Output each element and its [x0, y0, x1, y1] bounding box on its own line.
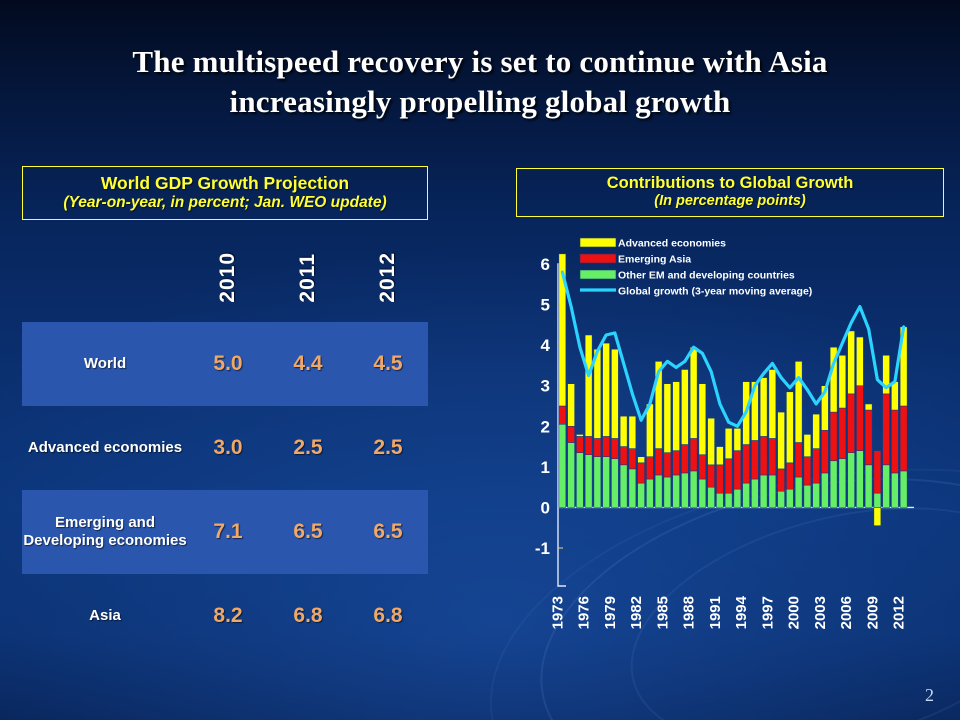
page-number: 2: [925, 685, 934, 706]
cell-emerging-2010: 7.1: [188, 490, 268, 574]
svg-text:1985: 1985: [654, 596, 671, 629]
table-header-2012: 2012: [348, 238, 428, 322]
cell-world-2011: 4.4: [268, 322, 348, 406]
table-row: Advanced economies 3.0 2.5 2.5: [22, 406, 428, 490]
cell-advanced-2010: 3.0: [188, 406, 268, 490]
svg-text:Advanced economies: Advanced economies: [618, 238, 726, 250]
chart-subtitle: (In percentage points): [521, 193, 939, 210]
cell-world-2010: 5.0: [188, 322, 268, 406]
contributions-chart-panel: Contributions to Global Growth (In perce…: [516, 168, 944, 217]
svg-text:-1: -1: [535, 539, 550, 558]
table-row: Emerging and Developing economies 7.1 6.…: [22, 490, 428, 574]
chart-x-tick-labels: 1973197619791982198519881991199419972000…: [549, 595, 907, 629]
contributions-chart-svg: Advanced economiesEmerging AsiaOther EM …: [516, 230, 944, 660]
svg-text:2: 2: [541, 417, 550, 436]
svg-text:Other EM and developing countr: Other EM and developing countries: [618, 270, 795, 282]
gdp-table: 2010 2011 2012 World 5.0: [22, 238, 428, 674]
cell-asia-2010: 8.2: [188, 574, 268, 658]
gdp-table-title-box: World GDP Growth Projection (Year-on-yea…: [22, 166, 428, 220]
row-label-emerging-developing: Emerging and Developing economies: [22, 490, 188, 574]
svg-text:2003: 2003: [812, 596, 829, 629]
slide-title-line-2: increasingly propelling global growth: [40, 82, 920, 122]
slide-title: The multispeed recovery is set to contin…: [40, 42, 920, 122]
slide-title-line-1: The multispeed recovery is set to contin…: [40, 42, 920, 82]
svg-text:Emerging Asia: Emerging Asia: [618, 254, 691, 266]
gdp-table-subtitle: (Year-on-year, in percent; Jan. WEO upda…: [27, 193, 423, 212]
slide-canvas: The multispeed recovery is set to contin…: [0, 0, 960, 720]
chart-title-box: Contributions to Global Growth (In perce…: [516, 168, 944, 217]
cell-asia-2011: 6.8: [268, 574, 348, 658]
svg-text:Global growth (3-year moving a: Global growth (3-year moving average): [618, 286, 812, 298]
svg-text:4: 4: [541, 336, 551, 355]
svg-text:1997: 1997: [759, 596, 776, 629]
row-label-advanced-economies: Advanced economies: [22, 406, 188, 490]
svg-text:1988: 1988: [681, 596, 698, 629]
svg-text:1973: 1973: [549, 596, 566, 629]
row-label-world: World: [22, 322, 188, 406]
cell-emerging-2012: 6.5: [348, 490, 428, 574]
table-header-2010: 2010: [188, 238, 268, 322]
svg-text:1982: 1982: [628, 596, 645, 629]
svg-text:6: 6: [541, 255, 550, 274]
svg-text:2006: 2006: [838, 596, 855, 629]
chart-legend: Advanced economiesEmerging AsiaOther EM …: [580, 238, 812, 298]
svg-text:1994: 1994: [733, 595, 750, 629]
svg-text:2012: 2012: [891, 596, 908, 629]
table-row: Asia 8.2 6.8 6.8: [22, 574, 428, 658]
table-header-2011: 2011: [268, 238, 348, 322]
svg-text:1976: 1976: [576, 596, 593, 629]
svg-text:3: 3: [541, 377, 550, 396]
cell-asia-2012: 6.8: [348, 574, 428, 658]
svg-text:5: 5: [541, 296, 550, 315]
svg-text:1: 1: [541, 458, 550, 477]
gdp-table-title: World GDP Growth Projection: [27, 173, 423, 193]
cell-advanced-2012: 2.5: [348, 406, 428, 490]
cell-world-2012: 4.5: [348, 322, 428, 406]
chart-plot-area: Advanced economiesEmerging AsiaOther EM …: [516, 230, 944, 660]
table-header-corner: [22, 238, 188, 322]
chart-title: Contributions to Global Growth: [521, 174, 939, 193]
table-header-row: 2010 2011 2012: [22, 238, 428, 322]
svg-text:2009: 2009: [864, 596, 881, 629]
svg-text:0: 0: [541, 498, 550, 517]
table-row: World 5.0 4.4 4.5: [22, 322, 428, 406]
cell-emerging-2011: 6.5: [268, 490, 348, 574]
svg-text:1979: 1979: [602, 596, 619, 629]
svg-text:2000: 2000: [786, 596, 803, 629]
row-label-asia: Asia: [22, 574, 188, 658]
gdp-table-panel: World GDP Growth Projection (Year-on-yea…: [22, 166, 428, 674]
svg-text:1991: 1991: [707, 596, 724, 629]
cell-advanced-2011: 2.5: [268, 406, 348, 490]
table-footer-spacer: [22, 658, 428, 674]
